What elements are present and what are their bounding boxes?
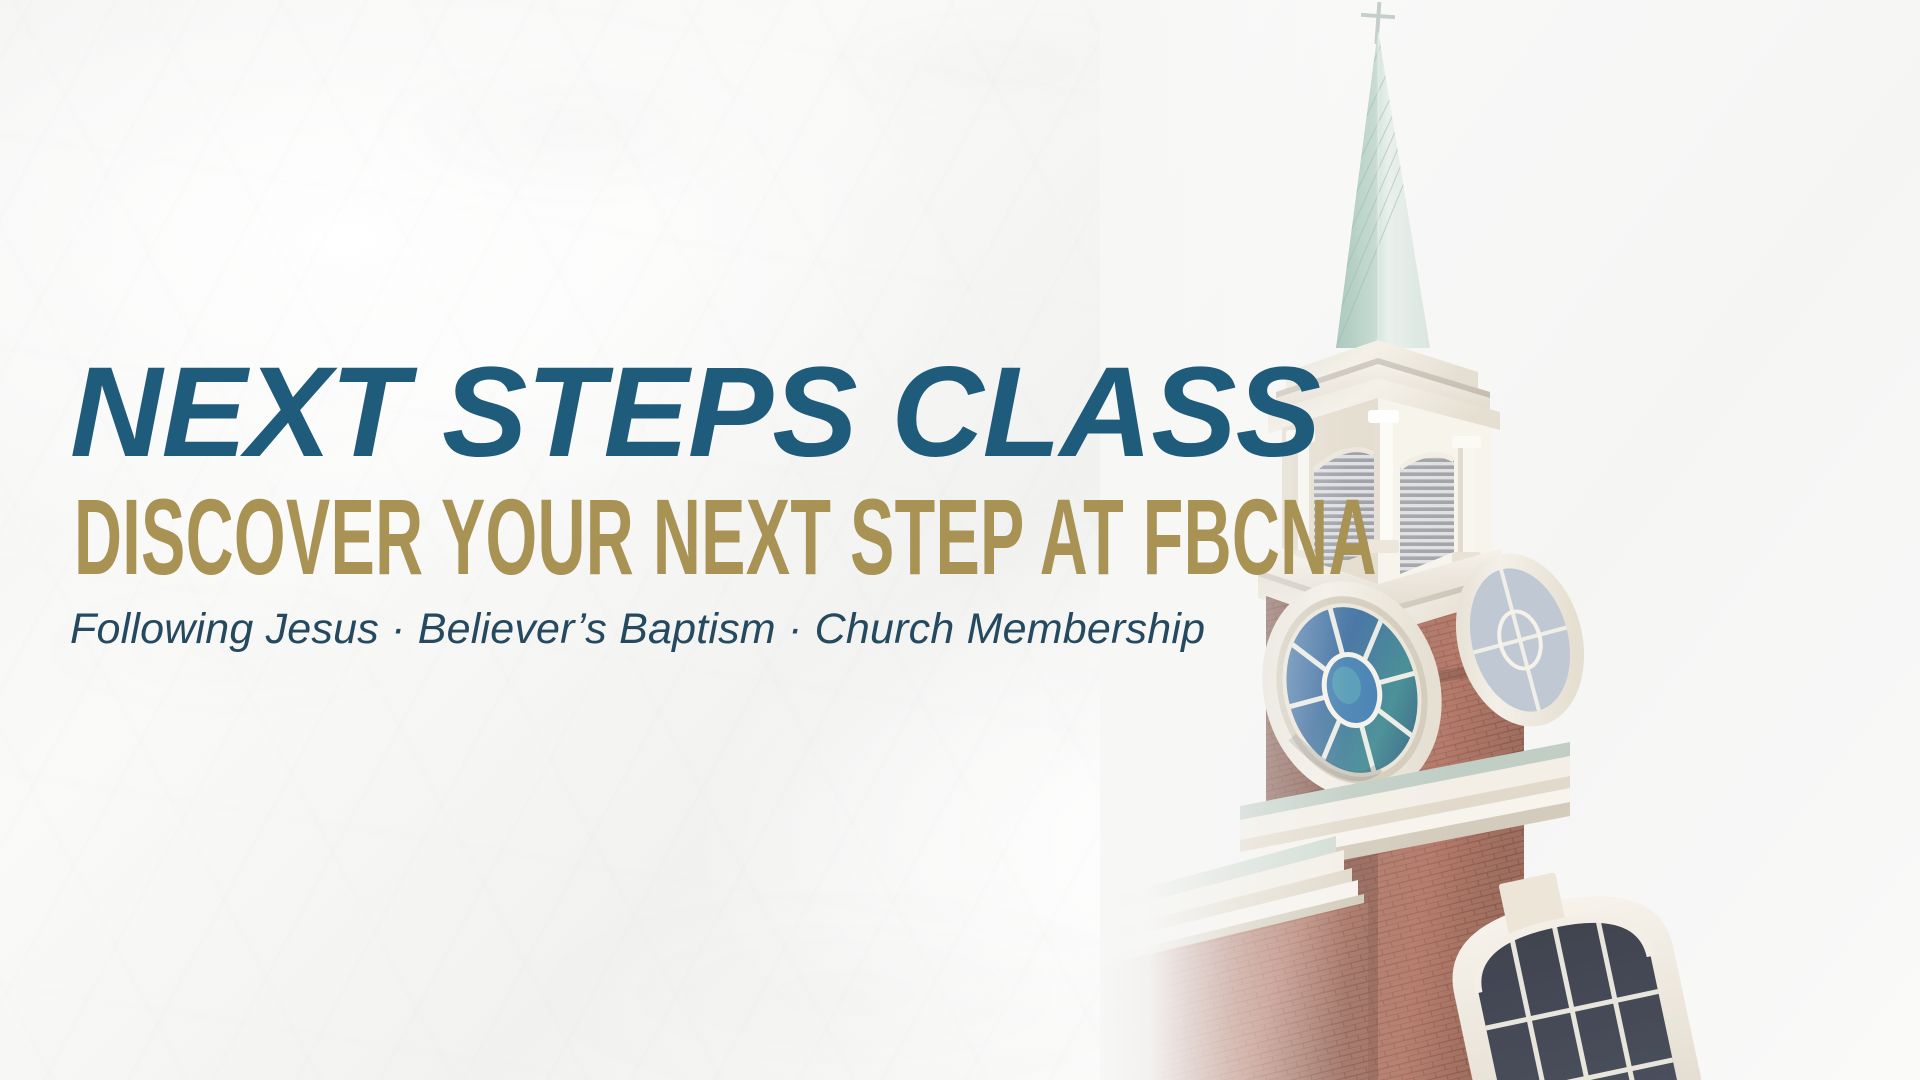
banner-canvas: NEXT STEPS CLASS DISCOVER YOUR NEXT STEP… (0, 0, 1920, 1080)
page-title: NEXT STEPS CLASS (70, 352, 1250, 475)
subtitle: DISCOVER YOUR NEXT STEP AT FBCNA (74, 489, 797, 584)
tagline: Following Jesus · Believer’s Baptism · C… (70, 606, 1120, 653)
headline-group: NEXT STEPS CLASS DISCOVER YOUR NEXT STEP… (70, 352, 1250, 653)
